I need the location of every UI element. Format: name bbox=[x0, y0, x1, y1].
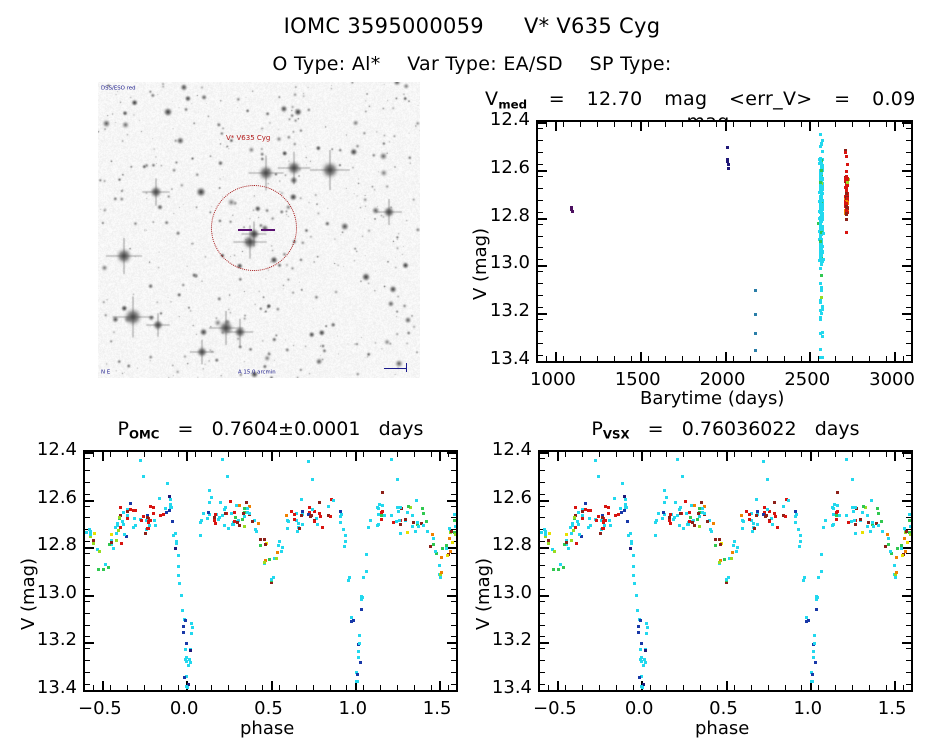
phase-vsx-point bbox=[572, 529, 575, 532]
timeseries-ytick-minor bbox=[538, 331, 543, 332]
phase-omc-point bbox=[142, 515, 145, 518]
phase-omc-point bbox=[154, 524, 157, 527]
timeseries-xtick-minor-top bbox=[852, 122, 853, 127]
phase-omc-point bbox=[415, 499, 418, 502]
phase-omc-point bbox=[122, 511, 125, 514]
timeseries-ytick-minor-right bbox=[906, 200, 911, 201]
timeseries-point bbox=[819, 318, 822, 321]
timeseries-point bbox=[845, 218, 848, 221]
phase-vsx-eclipse-point bbox=[639, 619, 642, 622]
phase-vsx-max-point bbox=[676, 458, 679, 461]
phase-vsx-point bbox=[640, 660, 643, 663]
var-type-value: EA/SD bbox=[503, 53, 563, 75]
timeseries-point bbox=[820, 196, 823, 199]
phase-vsx-point bbox=[620, 511, 623, 514]
timeseries-xtick-major bbox=[894, 352, 896, 361]
phase-vsx-xtick-minor-top bbox=[683, 452, 684, 457]
phase-omc-point bbox=[446, 554, 449, 557]
timeseries-ytick-minor-right bbox=[906, 164, 911, 165]
phase-omc-xtick-major-top bbox=[355, 452, 357, 461]
phase-vsx-point bbox=[730, 557, 733, 560]
phase-vsx-point bbox=[718, 561, 721, 564]
phase-vsx-xtick-major-top bbox=[726, 452, 728, 461]
timeseries-xtick-minor bbox=[767, 356, 768, 361]
timeseries-x-axis-label: Barytime (days) bbox=[640, 388, 784, 409]
timeseries-xtick-minor bbox=[886, 356, 887, 361]
phase-omc-point bbox=[380, 518, 383, 521]
phase-vsx-point bbox=[597, 515, 600, 518]
phase-vsx-point bbox=[588, 517, 591, 520]
phase-omc-point bbox=[159, 514, 162, 517]
phase-omc-xtick-minor bbox=[431, 685, 432, 690]
phase-omc-period-symbol: P bbox=[118, 418, 129, 440]
phase-vsx-xtick-minor bbox=[650, 685, 651, 690]
phase-omc-point bbox=[245, 501, 248, 504]
phase-vsx-xtick-minor-top bbox=[616, 452, 617, 457]
phase-omc-point bbox=[453, 513, 456, 516]
finder-corner-label-topleft: DSS/ESO red bbox=[101, 85, 135, 91]
timeseries-xtick-minor-top bbox=[614, 122, 615, 127]
phase-omc-xtick-minor-top bbox=[110, 452, 111, 457]
phase-omc-point bbox=[223, 508, 226, 511]
phase-omc-xtick-label: 0.0 bbox=[158, 698, 210, 719]
phase-omc-point bbox=[380, 514, 383, 517]
phase-omc-point bbox=[286, 519, 289, 522]
phase-vsx-point bbox=[895, 571, 898, 574]
timeseries-point bbox=[819, 216, 822, 219]
timeseries-ytick-major bbox=[538, 361, 547, 363]
timeseries-point bbox=[754, 313, 757, 316]
phase-omc-ytick-major-right bbox=[447, 690, 456, 692]
phase-omc-ytick-major bbox=[85, 642, 94, 644]
phase-omc-point bbox=[182, 631, 185, 634]
o-type-value: Al* bbox=[352, 53, 381, 75]
phase-vsx-point bbox=[557, 568, 560, 571]
phase-vsx-eclipse-point bbox=[644, 690, 647, 692]
phase-vsx-max-point bbox=[594, 459, 597, 462]
phase-omc-point bbox=[383, 514, 386, 517]
phase-vsx-point bbox=[599, 532, 602, 535]
phase-omc-period-unit: days bbox=[379, 418, 424, 440]
timeseries-point bbox=[819, 248, 822, 251]
phase-vsx-point bbox=[773, 501, 776, 504]
timeseries-ytick-major bbox=[538, 265, 547, 267]
phase-vsx-point bbox=[548, 532, 551, 535]
phase-vsx-point bbox=[889, 550, 892, 553]
timeseries-xtick-minor bbox=[750, 356, 751, 361]
phase-omc-xtick-label: 1.0 bbox=[327, 698, 379, 719]
timeseries-point bbox=[821, 251, 824, 254]
phase-omc-xtick-minor bbox=[144, 685, 145, 690]
phase-vsx-xtick-major-top bbox=[810, 452, 812, 461]
phase-omc-max-point bbox=[311, 478, 314, 481]
phase-omc-xtick-minor bbox=[245, 685, 246, 690]
timeseries-point bbox=[845, 213, 848, 216]
phase-vsx-title: PVSX = 0.76036022 days bbox=[538, 418, 913, 441]
timeseries-ytick-minor bbox=[538, 247, 543, 248]
var-type-label: Var Type: bbox=[407, 53, 497, 75]
phase-omc-point bbox=[140, 519, 143, 522]
timeseries-ytick-minor-right bbox=[906, 355, 911, 356]
timeseries-xtick-minor bbox=[852, 356, 853, 361]
phase-omc-point bbox=[357, 656, 360, 659]
phase-omc-xtick-minor-top bbox=[397, 452, 398, 457]
phase-omc-point bbox=[133, 517, 136, 520]
phase-vsx-point bbox=[617, 513, 620, 516]
phase-omc-point bbox=[251, 520, 254, 523]
timeseries-xtick-major-top bbox=[894, 122, 896, 131]
phase-vsx-point bbox=[894, 576, 897, 579]
phase-omc-point bbox=[169, 506, 172, 509]
phase-omc-point bbox=[158, 497, 161, 500]
phase-omc-eclipse-point bbox=[355, 690, 358, 692]
timeseries-ytick-minor-right bbox=[906, 271, 911, 272]
phase-omc-xtick-minor bbox=[262, 685, 263, 690]
phase-vsx-ytick-minor bbox=[540, 648, 545, 649]
star-name: V* V635 Cyg bbox=[524, 14, 660, 38]
phase-vsx-point bbox=[877, 512, 880, 515]
phase-omc-point bbox=[344, 534, 347, 537]
phase-omc-point bbox=[134, 509, 137, 512]
timeseries-point bbox=[821, 331, 824, 334]
timeseries-point bbox=[820, 296, 823, 299]
phase-vsx-point bbox=[824, 519, 827, 522]
timeseries-point bbox=[821, 308, 824, 311]
phase-vsx-point bbox=[794, 510, 797, 513]
phase-omc-equals: = bbox=[178, 418, 194, 440]
phase-vsx-ytick-major bbox=[540, 452, 549, 454]
phase-vsx-point bbox=[817, 576, 820, 579]
phase-vsx-point bbox=[812, 656, 815, 659]
phase-omc-ytick-minor bbox=[85, 601, 90, 602]
phase-vsx-point bbox=[691, 521, 694, 524]
phase-omc-point bbox=[278, 540, 281, 543]
phase-vsx-xtick-minor bbox=[582, 685, 583, 690]
phase-omc-point bbox=[199, 521, 202, 524]
phase-vsx-point bbox=[578, 533, 581, 536]
phase-omc-point bbox=[432, 537, 435, 540]
phase-vsx-eclipse-point bbox=[813, 642, 816, 645]
phase-vsx-ytick-major-right bbox=[902, 690, 911, 692]
phase-omc-eclipse-point bbox=[185, 642, 188, 645]
phase-vsx-point bbox=[589, 509, 592, 512]
timeseries-xtick-minor-top bbox=[597, 122, 598, 127]
phase-vsx-xtick-minor bbox=[666, 685, 667, 690]
phase-omc-point bbox=[297, 522, 300, 525]
phase-omc-ytick-minor-right bbox=[451, 506, 456, 507]
phase-omc-point bbox=[321, 526, 324, 529]
phase-omc-point bbox=[318, 512, 321, 515]
phase-vsx-point bbox=[756, 510, 759, 513]
phase-omc-eclipse-point bbox=[184, 619, 187, 622]
phase-vsx-eclipse-point bbox=[814, 661, 817, 664]
phase-vsx-xtick-minor-top bbox=[768, 452, 769, 457]
phase-vsx-point bbox=[657, 512, 660, 515]
phase-vsx-point bbox=[621, 482, 624, 485]
timeseries-point bbox=[820, 213, 823, 216]
phase-vsx-point bbox=[679, 512, 682, 515]
phase-vsx-point bbox=[662, 511, 665, 514]
phase-omc-point bbox=[417, 525, 420, 528]
phase-omc-ytick-minor-right bbox=[451, 577, 456, 578]
phase-vsx-ytick-minor bbox=[540, 458, 545, 459]
phase-vsx-xtick-minor-top bbox=[886, 452, 887, 457]
phase-omc-point bbox=[152, 512, 155, 515]
phase-vsx-point bbox=[851, 506, 854, 509]
phase-omc-point bbox=[449, 550, 452, 553]
phase-omc-ytick-major-right bbox=[447, 452, 456, 454]
phase-vsx-point bbox=[784, 515, 787, 518]
phase-omc-xtick-minor bbox=[380, 685, 381, 690]
timeseries-xtick-minor-top bbox=[733, 122, 734, 127]
target-crosshair-left bbox=[238, 229, 252, 231]
timeseries-xtick-minor-top bbox=[648, 122, 649, 127]
phase-vsx-max-point bbox=[766, 478, 769, 481]
phase-vsx-point bbox=[822, 526, 825, 529]
phase-vsx-point bbox=[887, 537, 890, 540]
phase-vsx-point bbox=[629, 547, 632, 550]
phase-omc-point bbox=[118, 516, 121, 519]
phase-vsx-xtick-minor-top bbox=[582, 452, 583, 457]
phase-omc-point bbox=[263, 561, 266, 564]
phase-vsx-xtick-minor bbox=[565, 685, 566, 690]
phase-vsx-point bbox=[901, 554, 904, 557]
phase-omc-point bbox=[175, 542, 178, 545]
phase-omc-point bbox=[448, 537, 451, 540]
phase-omc-eclipse-point bbox=[189, 661, 192, 664]
phase-omc-point bbox=[264, 543, 267, 546]
phase-vsx-point bbox=[645, 622, 648, 625]
phase-vsx-point bbox=[732, 544, 735, 547]
timeseries-xtick-minor bbox=[563, 356, 564, 361]
timeseries-point bbox=[821, 150, 824, 153]
phase-omc-point bbox=[234, 516, 237, 519]
phase-vsx-point bbox=[755, 514, 758, 517]
phase-vsx-point bbox=[909, 525, 912, 528]
phase-vsx-ytick-minor-right bbox=[906, 636, 911, 637]
phase-vsx-point bbox=[836, 504, 839, 507]
phase-omc-point bbox=[174, 547, 177, 550]
timeseries-point bbox=[845, 202, 848, 205]
phase-omc-point bbox=[177, 565, 180, 568]
phase-vsx-point bbox=[595, 519, 598, 522]
phase-omc-point bbox=[392, 521, 395, 524]
phase-vsx-point bbox=[773, 512, 776, 515]
phase-vsx-xtick-minor bbox=[683, 685, 684, 690]
phase-vsx-xtick-minor-top bbox=[666, 452, 667, 457]
timeseries-point bbox=[819, 245, 822, 248]
phase-vsx-ytick-label: 12.6 bbox=[476, 487, 532, 508]
phase-vsx-point bbox=[577, 523, 580, 526]
phase-omc-point bbox=[280, 550, 283, 553]
timeseries-xtick-minor bbox=[614, 356, 615, 361]
phase-vsx-point bbox=[797, 528, 800, 531]
phase-omc-point bbox=[301, 523, 304, 526]
phase-omc-point bbox=[357, 650, 360, 653]
phase-vsx-ytick-minor bbox=[540, 636, 545, 637]
phase-omc-xtick-minor bbox=[228, 685, 229, 690]
timeseries-ytick-minor bbox=[538, 140, 543, 141]
phase-omc-ytick-major-right bbox=[447, 595, 456, 597]
timeseries-xtick-label: 1500 bbox=[612, 369, 664, 390]
timeseries-point bbox=[820, 312, 823, 315]
phase-vsx-point bbox=[703, 512, 706, 515]
timeseries-xtick-label: 3000 bbox=[866, 369, 918, 390]
phase-vsx-ytick-minor-right bbox=[906, 482, 911, 483]
phase-omc-ytick-minor bbox=[85, 458, 90, 459]
phase-vsx-point bbox=[623, 509, 626, 512]
phase-vsx-point bbox=[678, 508, 681, 511]
phase-omc-point bbox=[126, 517, 129, 520]
phase-vsx-point bbox=[776, 526, 779, 529]
phase-omc-point bbox=[126, 510, 129, 513]
timeseries-point bbox=[846, 181, 849, 184]
timeseries-point bbox=[571, 210, 574, 213]
phase-omc-point bbox=[189, 649, 192, 652]
phase-vsx-max-point bbox=[597, 475, 600, 478]
phase-vsx-point bbox=[565, 541, 568, 544]
phase-omc-point bbox=[206, 517, 209, 520]
timeseries-ytick-minor-right bbox=[906, 224, 911, 225]
timeseries-point bbox=[819, 133, 822, 136]
phase-omc-point bbox=[248, 512, 251, 515]
phase-omc-point bbox=[376, 506, 379, 509]
phase-omc-point bbox=[107, 566, 110, 569]
phase-vsx-point bbox=[609, 524, 612, 527]
phase-vsx-point bbox=[866, 525, 869, 528]
phase-omc-ytick-major bbox=[85, 452, 94, 454]
phase-omc-point bbox=[398, 519, 401, 522]
phase-vsx-ytick-minor bbox=[540, 553, 545, 554]
phase-vsx-point bbox=[815, 608, 818, 611]
phase-vsx-point bbox=[581, 517, 584, 520]
phase-omc-xtick-minor bbox=[178, 685, 179, 690]
phase-omc-point bbox=[144, 532, 147, 535]
phase-vsx-ytick-major-right bbox=[902, 595, 911, 597]
timeseries-xtick-minor bbox=[733, 356, 734, 361]
phase-omc-point bbox=[191, 626, 194, 629]
phase-vsx-point bbox=[725, 578, 728, 581]
phase-omc-xtick-minor-top bbox=[211, 452, 212, 457]
phase-omc-xtick-minor bbox=[414, 685, 415, 690]
phase-vsx-point bbox=[607, 512, 610, 515]
phase-omc-point bbox=[426, 530, 429, 533]
phase-omc-point bbox=[174, 532, 177, 535]
phase-vsx-point bbox=[697, 512, 700, 515]
phase-omc-point bbox=[112, 547, 115, 550]
timeseries-ytick-label: 13.2 bbox=[474, 300, 530, 321]
phase-omc-ytick-major bbox=[85, 547, 94, 549]
phase-omc-point bbox=[360, 595, 363, 598]
phase-vsx-eclipse-point bbox=[810, 690, 813, 692]
phase-vsx-point bbox=[584, 502, 587, 505]
phase-vsx-point bbox=[740, 514, 743, 517]
phase-omc-ytick-minor bbox=[85, 517, 90, 518]
phase-vsx-point bbox=[544, 533, 547, 536]
phase-omc-point bbox=[162, 513, 165, 516]
phase-vsx-point bbox=[635, 594, 638, 597]
timeseries-xtick-minor-top bbox=[801, 122, 802, 127]
phase-omc-ytick-minor bbox=[85, 565, 90, 566]
phase-omc-xtick-major-top bbox=[271, 452, 273, 461]
phase-vsx-point bbox=[601, 516, 604, 519]
phase-omc-point bbox=[327, 505, 330, 508]
phase-vsx-point bbox=[833, 503, 836, 506]
phase-vsx-ytick-label: 13.0 bbox=[476, 582, 532, 603]
phase-vsx-point bbox=[835, 514, 838, 517]
phase-omc-xtick-minor-top bbox=[262, 452, 263, 457]
phase-vsx-point bbox=[624, 498, 627, 501]
phase-omc-point bbox=[342, 528, 345, 531]
phase-vsx-point bbox=[632, 574, 635, 577]
timeseries-xtick-minor-top bbox=[580, 122, 581, 127]
phase-omc-xtick-major bbox=[439, 681, 441, 690]
phase-vsx-ytick-minor bbox=[540, 517, 545, 518]
timeseries-ytick-minor-right bbox=[906, 343, 911, 344]
phase-omc-point bbox=[421, 507, 424, 510]
phase-omc-point bbox=[329, 515, 332, 518]
phase-vsx-point bbox=[696, 518, 699, 521]
phase-vsx-eclipse-point bbox=[640, 642, 643, 645]
phase-omc-point bbox=[190, 622, 193, 625]
target-marker-circle bbox=[211, 185, 297, 271]
phase-omc-ytick-minor-right bbox=[451, 553, 456, 554]
phase-vsx-eclipse-point bbox=[807, 619, 810, 622]
phase-vsx-xtick-minor bbox=[700, 685, 701, 690]
timeseries-xtick-minor bbox=[631, 356, 632, 361]
phase-omc-point bbox=[309, 515, 312, 518]
phase-vsx-point bbox=[601, 527, 604, 530]
phase-vsx-ytick-minor-right bbox=[906, 589, 911, 590]
phase-vsx-eclipse-point bbox=[811, 680, 814, 683]
phase-omc-max-point bbox=[396, 478, 399, 481]
phase-omc-ytick-minor bbox=[85, 553, 90, 554]
phase-vsx-point bbox=[581, 514, 584, 517]
phase-omc-point bbox=[416, 521, 419, 524]
timeseries-point bbox=[820, 274, 823, 277]
phase-omc-point bbox=[210, 496, 213, 499]
phase-omc-xtick-minor-top bbox=[127, 452, 128, 457]
timeseries-point bbox=[819, 157, 822, 160]
phase-vsx-point bbox=[867, 521, 870, 524]
timeseries-point bbox=[845, 209, 848, 212]
phase-omc-point bbox=[434, 550, 437, 553]
phase-vsx-point bbox=[633, 582, 636, 585]
phase-omc-xtick-minor bbox=[330, 685, 331, 690]
timeseries-ytick-minor bbox=[538, 176, 543, 177]
phase-vsx-xtick-minor-top bbox=[801, 452, 802, 457]
timeseries-ytick-minor-right bbox=[906, 247, 911, 248]
timeseries-point bbox=[819, 282, 822, 285]
phase-vsx-point bbox=[613, 497, 616, 500]
finder-star-label: V* V635 Cyg bbox=[226, 134, 270, 142]
phase-vsx-point bbox=[624, 506, 627, 509]
phase-omc-point bbox=[152, 506, 155, 509]
phase-vsx-point bbox=[642, 664, 645, 667]
phase-omc-xtick-minor-top bbox=[161, 452, 162, 457]
timeseries-point bbox=[844, 186, 847, 189]
phase-omc-point bbox=[365, 570, 368, 573]
timeseries-plot-area bbox=[536, 120, 913, 363]
phase-vsx-eclipse-point bbox=[811, 673, 814, 676]
phase-omc-max-point bbox=[390, 458, 393, 461]
phase-vsx-xtick-minor bbox=[886, 685, 887, 690]
phase-omc-xtick-minor-top bbox=[414, 452, 415, 457]
phase-vsx-point bbox=[706, 520, 709, 523]
phase-omc-point bbox=[414, 530, 417, 533]
phase-omc-point bbox=[438, 564, 441, 567]
phase-omc-xtick-minor-top bbox=[363, 452, 364, 457]
